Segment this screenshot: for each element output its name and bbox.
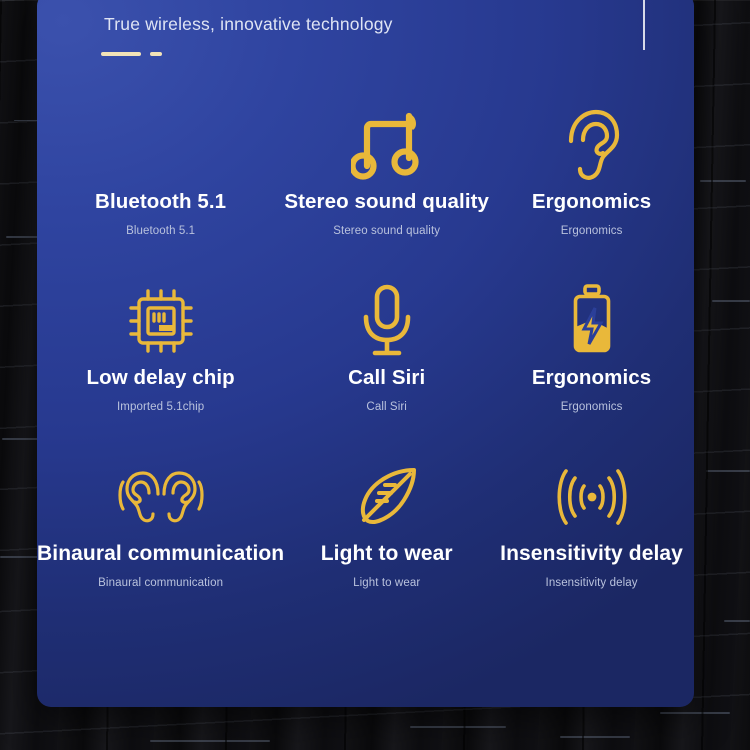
texture-speck <box>712 300 750 302</box>
vertical-divider-line <box>643 0 645 50</box>
texture-speck <box>150 740 270 742</box>
chip-icon <box>37 280 284 362</box>
feature-title: Ergonomics <box>532 190 651 214</box>
feather-icon <box>284 456 489 538</box>
feature-item-light-to-wear[interactable]: Light to wear Light to wear <box>284 448 489 624</box>
feature-title: Ergonomics <box>532 366 651 390</box>
feature-subtitle: Stereo sound quality <box>333 225 440 237</box>
accent-dash-long <box>101 52 141 56</box>
texture-speck <box>706 470 750 472</box>
texture-speck <box>700 180 746 182</box>
binaural-ears-icon <box>37 456 284 538</box>
feature-item-stereo-sound[interactable]: Stereo sound quality Stereo sound qualit… <box>284 96 489 272</box>
feature-item-ergonomics-battery[interactable]: Ergonomics Ergonomics <box>489 272 694 448</box>
feature-subtitle: Call Siri <box>366 401 407 413</box>
feature-title: Bluetooth 5.1 <box>95 190 226 214</box>
battery-charging-icon <box>489 280 694 362</box>
accent-dashes <box>101 52 162 56</box>
feature-subtitle: Insensitivity delay <box>546 577 638 589</box>
feature-card: True wireless, innovative technology Blu… <box>37 0 694 707</box>
texture-speck <box>410 726 506 728</box>
feature-subtitle: Light to wear <box>353 577 420 589</box>
ear-icon <box>489 104 694 186</box>
feature-title: Call Siri <box>348 366 425 390</box>
feature-title: Binaural communication <box>37 542 284 566</box>
feature-title: Low delay chip <box>86 366 234 390</box>
signal-waves-icon <box>489 456 694 538</box>
feature-title: Stereo sound quality <box>284 190 489 214</box>
feature-item-bluetooth[interactable]: Bluetooth 5.1 Bluetooth 5.1 <box>37 96 284 272</box>
bluetooth-icon-placeholder <box>37 104 284 186</box>
feature-item-call-siri[interactable]: Call Siri Call Siri <box>284 272 489 448</box>
feature-subtitle: Binaural communication <box>98 577 223 589</box>
feature-item-binaural-communication[interactable]: Binaural communication Binaural communic… <box>37 448 284 624</box>
feature-subtitle: Imported 5.1chip <box>117 401 204 413</box>
feature-item-insensitivity-delay[interactable]: Insensitivity delay Insensitivity delay <box>489 448 694 624</box>
feature-item-low-delay-chip[interactable]: Low delay chip Imported 5.1chip <box>37 272 284 448</box>
feature-title: Light to wear <box>321 542 453 566</box>
feature-title: Insensitivity delay <box>500 542 683 566</box>
feature-grid: Bluetooth 5.1 Bluetooth 5.1 Stereo sound… <box>37 96 694 624</box>
texture-speck <box>560 736 630 738</box>
feature-subtitle: Ergonomics <box>561 401 623 413</box>
feature-subtitle: Ergonomics <box>561 225 623 237</box>
feature-subtitle: Bluetooth 5.1 <box>126 225 195 237</box>
texture-speck <box>660 712 730 714</box>
page-title: True wireless, innovative technology <box>104 14 393 35</box>
microphone-icon <box>284 280 489 362</box>
texture-speck <box>724 620 750 622</box>
accent-dash-short <box>150 52 162 56</box>
feature-item-ergonomics-ear[interactable]: Ergonomics Ergonomics <box>489 96 694 272</box>
music-note-icon <box>284 104 489 186</box>
